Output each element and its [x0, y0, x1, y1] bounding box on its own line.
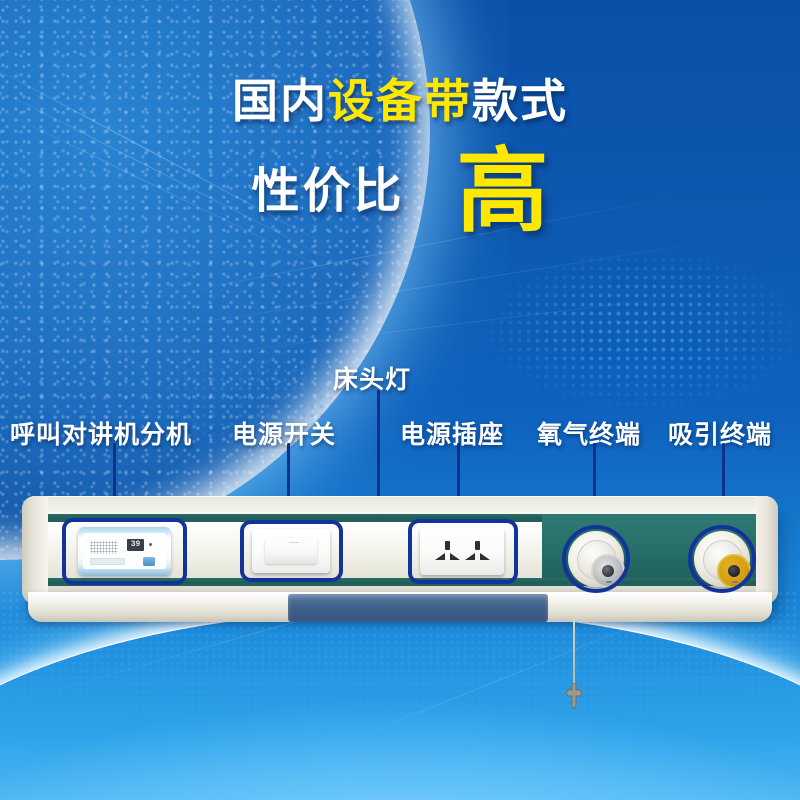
promo-banner-stage: 国内设备带款式 性价比 高 呼叫对讲机分机 电源开关 床头灯 电源插座 氧气终端…: [0, 0, 800, 800]
highlight-circle-suction-terminal: [688, 525, 756, 593]
highlight-box-power-socket: [408, 519, 518, 584]
panel-end-cap-left: [22, 496, 48, 604]
callout-label-power-switch: 电源开关: [232, 415, 336, 451]
highlight-box-power-switch: [240, 520, 343, 582]
callout-layer: 呼叫对讲机分机 电源开关 床头灯 电源插座 氧气终端 吸引终端: [0, 0, 800, 800]
callout-label-suction-terminal: 吸引终端: [668, 415, 772, 451]
pull-cord[interactable]: [573, 617, 575, 689]
highlight-box-call-intercom: [62, 518, 187, 585]
bed-lamp-diffuser[interactable]: [288, 594, 548, 622]
bed-lamp-lens: [288, 594, 548, 622]
callout-label-power-socket: 电源插座: [400, 415, 504, 451]
panel-end-cap-right: [756, 496, 778, 604]
callout-label-bed-lamp: 床头灯: [333, 360, 411, 396]
callout-label-call-intercom: 呼叫对讲机分机: [10, 415, 192, 451]
callout-label-oxygen-terminal: 氧气终端: [537, 415, 641, 451]
highlight-circle-oxygen-terminal: [562, 525, 630, 593]
cord-plug-icon: [563, 683, 585, 709]
